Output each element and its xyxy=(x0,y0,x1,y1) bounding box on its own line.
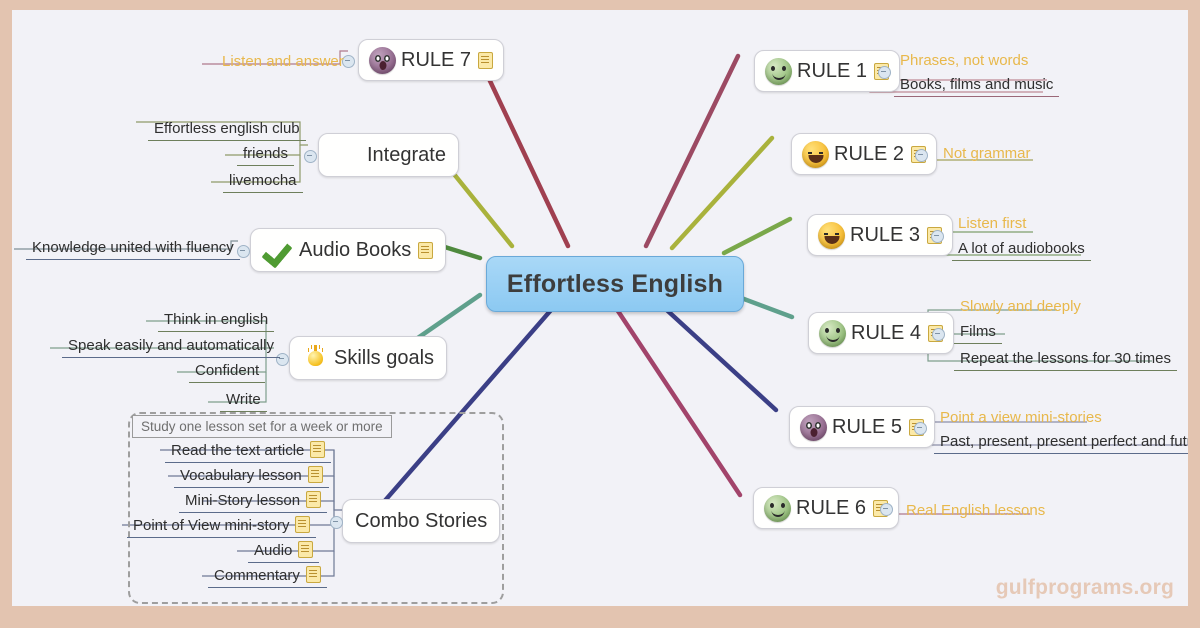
node-rule-6[interactable]: RULE 6 xyxy=(753,487,899,529)
sub-combo-0[interactable]: Read the text article xyxy=(165,439,331,463)
node-integrate-label: Integrate xyxy=(367,144,446,167)
sub-rule-5-0[interactable]: Point a view mini-stories xyxy=(934,407,1108,429)
collapse-toggle-integrate[interactable] xyxy=(304,150,317,163)
node-skills-goals[interactable]: Skills goals xyxy=(289,336,447,380)
mindmap-canvas: Effortless English RULE 1 Phrases, not w… xyxy=(0,0,1200,628)
sub-combo-1-label: Vocabulary lesson xyxy=(180,467,302,484)
sub-rule-3-0[interactable]: Listen first xyxy=(952,213,1032,235)
combo-stories-group-header: Study one lesson set for a week or more xyxy=(132,415,392,438)
collapse-toggle-rule-1[interactable] xyxy=(878,66,891,79)
lightbulb-icon xyxy=(302,345,328,371)
sub-combo-5-label: Commentary xyxy=(214,567,300,584)
sub-rule-2-0[interactable]: Not grammar xyxy=(937,143,1037,165)
collapse-toggle-rule-5[interactable] xyxy=(914,422,927,435)
sub-combo-3[interactable]: Point of View mini-story xyxy=(127,514,316,538)
sub-rule-4-2[interactable]: Repeat the lessons for 30 times xyxy=(954,348,1177,371)
node-rule-2-label: RULE 2 xyxy=(834,143,904,166)
node-audio-books-label: Audio Books xyxy=(299,239,411,262)
mindmap-page: Effortless English RULE 1 Phrases, not w… xyxy=(12,10,1188,606)
sub-skills-3[interactable]: Write xyxy=(220,389,267,412)
note-icon xyxy=(298,541,313,558)
people-icon xyxy=(331,142,361,168)
node-rule-7[interactable]: RULE 7 xyxy=(358,39,504,81)
note-icon xyxy=(418,242,433,259)
central-node[interactable]: Effortless English xyxy=(486,256,744,312)
sub-combo-4[interactable]: Audio xyxy=(248,539,319,563)
collapse-toggle-rule-3[interactable] xyxy=(931,230,944,243)
green-smiley-icon xyxy=(765,58,792,85)
purple-shocked-icon xyxy=(800,414,827,441)
gold-laughing-icon xyxy=(802,141,829,168)
green-smiley-icon xyxy=(764,495,791,522)
node-rule-5-label: RULE 5 xyxy=(832,416,902,439)
sub-audio-books-0[interactable]: Knowledge united with fluency xyxy=(26,237,240,260)
central-node-label: Effortless English xyxy=(507,270,723,299)
note-icon xyxy=(306,566,321,583)
node-rule-7-label: RULE 7 xyxy=(401,49,471,72)
sub-skills-2[interactable]: Confident xyxy=(189,360,265,383)
collapse-toggle-rule-6[interactable] xyxy=(880,503,893,516)
node-rule-3-label: RULE 3 xyxy=(850,224,920,247)
sub-integrate-2[interactable]: livemocha xyxy=(223,170,303,193)
sub-integrate-1[interactable]: friends xyxy=(237,143,294,166)
node-integrate[interactable]: Integrate xyxy=(318,133,459,177)
sub-skills-1[interactable]: Speak easily and automatically xyxy=(62,335,280,358)
sub-rule-4-0[interactable]: Slowly and deeply xyxy=(954,296,1087,318)
sub-combo-5[interactable]: Commentary xyxy=(208,564,327,588)
node-rule-6-label: RULE 6 xyxy=(796,497,866,520)
node-combo-stories-label: Combo Stories xyxy=(355,510,487,533)
sub-combo-0-label: Read the text article xyxy=(171,442,304,459)
note-icon xyxy=(310,441,325,458)
sub-rule-4-1[interactable]: Films xyxy=(954,321,1002,344)
sub-rule-1-0[interactable]: Phrases, not words xyxy=(894,50,1034,72)
sub-skills-0[interactable]: Think in english xyxy=(158,309,274,332)
green-smiley-icon xyxy=(819,320,846,347)
node-combo-stories[interactable]: Combo Stories xyxy=(342,499,500,543)
collapse-toggle-rule-2[interactable] xyxy=(915,149,928,162)
sub-integrate-0[interactable]: Effortless english club xyxy=(148,118,306,141)
node-audio-books[interactable]: Audio Books xyxy=(250,228,446,272)
sub-combo-4-label: Audio xyxy=(254,542,292,559)
sub-rule-5-1[interactable]: Past, present, present perfect and futur… xyxy=(934,431,1188,454)
sub-rule-3-1[interactable]: A lot of audiobooks xyxy=(952,238,1091,261)
green-check-icon xyxy=(263,237,293,263)
node-skills-goals-label: Skills goals xyxy=(334,347,434,370)
note-icon xyxy=(308,466,323,483)
node-rule-1-label: RULE 1 xyxy=(797,60,867,83)
node-rule-4-label: RULE 4 xyxy=(851,322,921,345)
sub-combo-2[interactable]: Mini-Story lesson xyxy=(179,489,327,513)
sub-rule-1-1[interactable]: Books, films and music xyxy=(894,74,1059,97)
sub-combo-3-label: Point of View mini-story xyxy=(133,517,289,534)
sub-rule-6-0[interactable]: Real English lessons xyxy=(900,500,1051,522)
collapse-toggle-rule-4[interactable] xyxy=(932,328,945,341)
purple-shocked-icon xyxy=(369,47,396,74)
sub-combo-2-label: Mini-Story lesson xyxy=(185,492,300,509)
note-icon xyxy=(295,516,310,533)
collapse-toggle-combo-stories[interactable] xyxy=(330,516,343,529)
sub-rule-7-0[interactable]: Listen and answer xyxy=(216,51,350,73)
sub-combo-1[interactable]: Vocabulary lesson xyxy=(174,464,329,488)
note-icon xyxy=(478,52,493,69)
gold-laughing-icon xyxy=(818,222,845,249)
note-icon xyxy=(306,491,321,508)
watermark: gulfprograms.org xyxy=(996,576,1174,600)
